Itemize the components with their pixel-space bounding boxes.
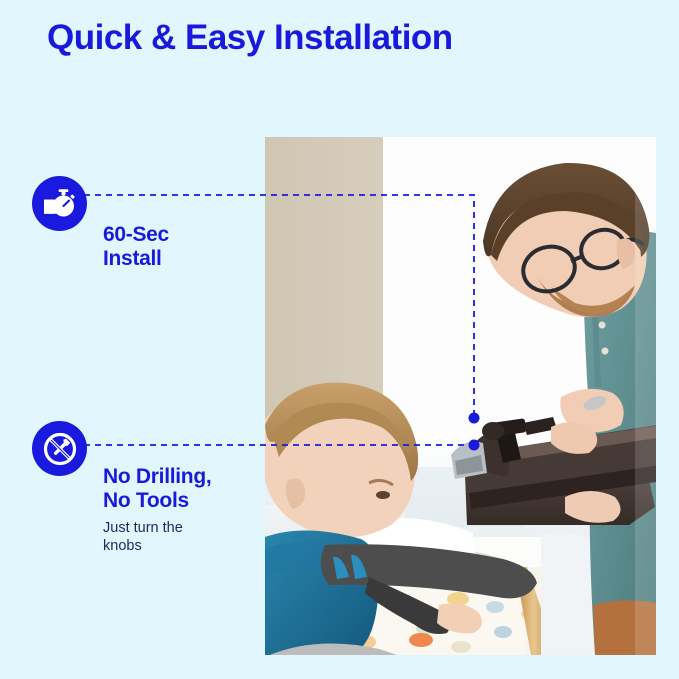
promo-panel: Quick & Easy Installation bbox=[0, 0, 679, 679]
feature-text-block: 60-Sec Install bbox=[103, 223, 293, 277]
feature-install-time: 60-Sec Install bbox=[32, 176, 87, 231]
feature-badge bbox=[32, 176, 87, 231]
feature-badge bbox=[32, 421, 87, 476]
stopwatch-speed-icon bbox=[42, 186, 78, 222]
feature-text-block: No Drilling, No Tools Just turn the knob… bbox=[103, 465, 293, 556]
feature-title: 60-Sec Install bbox=[103, 223, 293, 271]
feature-title: No Drilling, No Tools bbox=[103, 465, 293, 513]
page-title: Quick & Easy Installation bbox=[47, 18, 453, 58]
no-tools-hammer-icon bbox=[41, 430, 79, 468]
product-photo bbox=[265, 137, 656, 655]
feature-subtitle: Just turn the knobs bbox=[103, 519, 293, 555]
feature-no-tools: No Drilling, No Tools Just turn the knob… bbox=[32, 421, 87, 476]
